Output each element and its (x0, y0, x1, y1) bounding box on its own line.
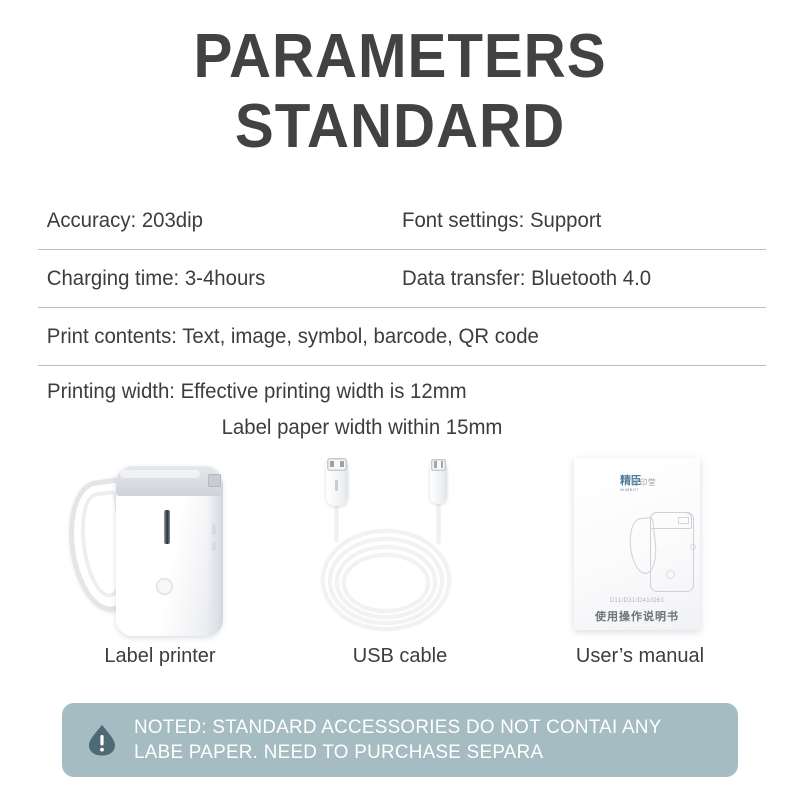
users-manual-image: 精臣 NIIMBOT 打印堂 D11/D31/D41/D61 使用操作说明书 (540, 452, 740, 637)
usb-a-trident-mark-icon (335, 480, 338, 491)
printer-button-secondary-icon (212, 542, 216, 551)
note-text-block: NOTED: STANDARD ACCESSORIES DO NOT CONTA… (134, 715, 667, 765)
gallery-item-label-printer: Label printer (40, 452, 280, 669)
cable-lead-left (335, 504, 338, 542)
manual-device-logo-icon (666, 570, 675, 579)
accessories-gallery: Label printer USB cable 精臣 NIIMBOT 打印堂 (40, 452, 760, 669)
printer-button-icon (212, 524, 216, 535)
spec-accuracy: Accuracy: 203dip (38, 207, 391, 235)
spec-printing-width-line-2: Label paper width within 15mm (47, 410, 502, 446)
cable-lead-right (437, 502, 440, 544)
manual-corner-tag: 打印堂 (631, 477, 656, 488)
spec-row-accuracy: Accuracy: 203dip Font settings: Support (38, 192, 766, 250)
spec-row-print-contents: Print contents: Text, image, symbol, bar… (38, 308, 766, 366)
spec-printing-width-line-1: Printing width: Effective printing width… (47, 374, 502, 410)
usb-a-tip-icon (327, 458, 347, 471)
page-title: PARAMETERS STANDARD (0, 26, 800, 158)
printer-logo-emboss (156, 578, 173, 595)
gallery-caption-usb-cable: USB cable (353, 643, 448, 669)
spec-row-charging: Charging time: 3-4hours Data transfer: B… (38, 250, 766, 308)
manual-device-button-icon (690, 544, 696, 550)
manual-device-slot-icon (678, 517, 689, 524)
exclamation-drop-icon (84, 722, 120, 758)
manual-model-numbers: D11/D31/D41/D61 (574, 598, 700, 604)
spec-data-transfer: Data transfer: Bluetooth 4.0 (402, 265, 755, 293)
note-text-line-1: NOTED: STANDARD ACCESSORIES DO NOT CONTA… (134, 715, 662, 740)
note-text-line-2: LABE PAPER. NEED TO PURCHASE SEPARA (134, 740, 662, 765)
specifications-table: Accuracy: 203dip Font settings: Support … (38, 192, 766, 446)
spec-print-contents: Print contents: Text, image, symbol, bar… (38, 323, 539, 351)
micro-usb-tip-icon (431, 459, 446, 471)
spec-font-settings: Font settings: Support (402, 207, 755, 235)
spec-row-printing-width: Printing width: Effective printing width… (38, 366, 766, 446)
gallery-caption-users-manual: User’s manual (576, 643, 704, 669)
cable-coil-inner (343, 554, 429, 612)
gallery-item-users-manual: 精臣 NIIMBOT 打印堂 D11/D31/D41/D61 使用操作说明书 U… (520, 452, 760, 669)
note-banner: NOTED: STANDARD ACCESSORIES DO NOT CONTA… (62, 703, 738, 777)
usb-cable-image (300, 452, 500, 637)
manual-subtitle: 使用操作说明书 (574, 608, 700, 624)
printer-top-highlight (120, 470, 200, 478)
spec-charging-time: Charging time: 3-4hours (38, 265, 391, 293)
page-title-line-2: STANDARD (24, 96, 776, 158)
label-printer-image (60, 452, 260, 637)
printer-port-icon (208, 474, 221, 487)
printer-paper-slot (164, 510, 170, 544)
gallery-item-usb-cable: USB cable (280, 452, 520, 669)
gallery-caption-label-printer: Label printer (104, 643, 215, 669)
manual-booklet: 精臣 NIIMBOT 打印堂 D11/D31/D41/D61 使用操作说明书 (574, 458, 700, 630)
page-title-line-1: PARAMETERS (24, 26, 776, 88)
